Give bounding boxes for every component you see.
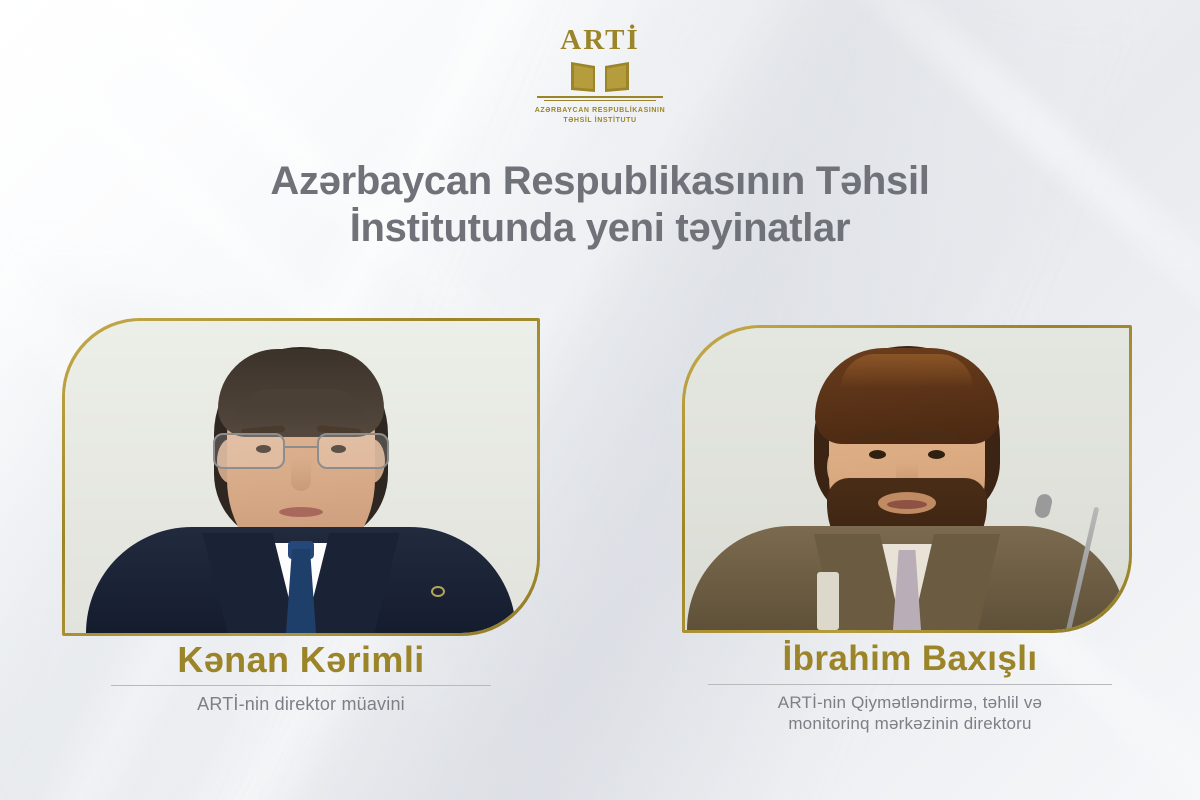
caption-divider-1 — [111, 685, 491, 686]
page-title-line-1: Azərbaycan Respublikasının Təhsil — [90, 158, 1110, 205]
person-name-1: Kənan Kərimli — [30, 640, 572, 680]
caption-divider-2 — [708, 684, 1112, 685]
logo-wordmark: ARTİ — [560, 26, 640, 55]
photo-frame-2 — [682, 325, 1132, 633]
person-role-1: ARTİ-nin direktor müavini — [30, 693, 572, 716]
photo-frame-1 — [62, 318, 540, 636]
photo-1 — [65, 321, 537, 633]
person-role-2-line-1: ARTİ-nin Qiymətləndirmə, təhlil və — [660, 692, 1160, 714]
person-card-1 — [62, 318, 540, 636]
photo-2 — [685, 328, 1129, 630]
announcement-poster: ARTİ AZƏRBAYCAN RESPUBLİKASININ TƏHSİL İ… — [0, 0, 1200, 800]
logo-subtitle-line-1: AZƏRBAYCAN RESPUBLİKASININ — [535, 106, 666, 116]
person-caption-2: İbrahim Baxışlı ARTİ-nin Qiymətləndirmə,… — [660, 640, 1160, 735]
logo-subtitle-line-2: TƏHSİL İNSTİTUTU — [535, 116, 666, 126]
page-title-line-2: İnstitutunda yeni təyinatlar — [90, 205, 1110, 252]
person-role-2-line-2: monitorinq mərkəzinin direktoru — [660, 713, 1160, 735]
person-card-2 — [682, 325, 1132, 633]
person-name-2: İbrahim Baxışlı — [660, 640, 1160, 679]
arti-logo: ARTİ AZƏRBAYCAN RESPUBLİKASININ TƏHSİL İ… — [0, 26, 1200, 126]
page-title: Azərbaycan Respublikasının Təhsil İnstit… — [0, 158, 1200, 252]
logo-divider-rules — [537, 96, 663, 101]
logo-subtitle: AZƏRBAYCAN RESPUBLİKASININ TƏHSİL İNSTİT… — [535, 106, 666, 126]
person-role-2: ARTİ-nin Qiymətləndirmə, təhlil və monit… — [660, 692, 1160, 736]
open-book-icon — [569, 58, 631, 94]
person-caption-1: Kənan Kərimli ARTİ-nin direktor müavini — [30, 640, 572, 716]
